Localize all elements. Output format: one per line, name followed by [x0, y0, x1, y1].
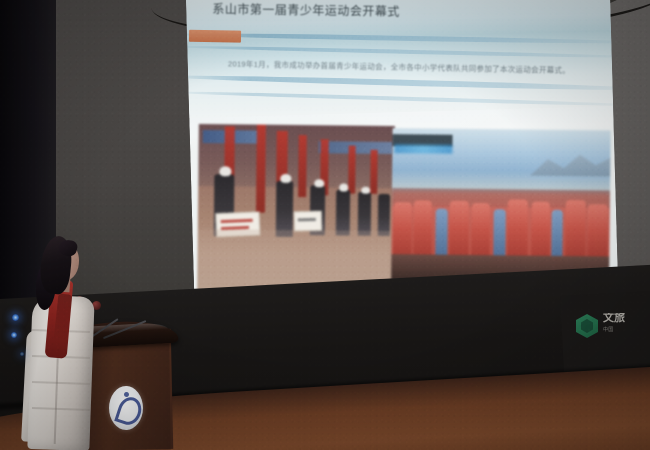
parade-placard — [294, 211, 322, 232]
crowd-person — [393, 202, 412, 260]
hexagon-leaf-icon — [576, 314, 598, 338]
crowd-person — [493, 209, 506, 259]
helmet-icon — [219, 166, 231, 176]
stadium-lights — [394, 144, 452, 154]
crowd-person — [413, 200, 432, 260]
slide-accent-tab — [189, 30, 241, 43]
crowd-person — [471, 203, 490, 261]
podium-emblem — [109, 386, 143, 430]
led-light-icon — [12, 314, 19, 321]
crowd-person — [435, 209, 448, 259]
marcher — [276, 181, 294, 237]
placard-text-line — [221, 219, 253, 223]
watermark-text: 文旅 — [603, 313, 650, 324]
placard-text-line — [298, 218, 316, 221]
crowd-person — [587, 204, 608, 262]
marcher — [336, 189, 350, 235]
slide-photo-left — [197, 124, 395, 301]
crowd-person — [565, 200, 586, 262]
auditorium-photo: 系山市第一届青少年运动会开幕式 2019年1月，我市成功举办首届青少年运动会，全… — [0, 0, 650, 450]
crowd-person — [507, 199, 528, 261]
crowd-person — [449, 201, 469, 261]
marcher — [358, 192, 371, 236]
helmet-icon — [280, 174, 291, 183]
red-flag — [370, 150, 377, 194]
emblem-dot-mark — [124, 392, 129, 397]
red-flag — [298, 135, 307, 197]
marcher — [378, 194, 390, 236]
helmet-icon — [339, 183, 348, 191]
red-flag — [348, 146, 356, 194]
led-light-icon — [11, 332, 17, 338]
watermark-subtext: 中国 — [603, 326, 650, 333]
crowd-person — [551, 210, 563, 260]
helmet-icon — [361, 187, 370, 194]
helmet-icon — [314, 179, 324, 187]
red-flag — [256, 125, 266, 213]
crowd-person — [531, 202, 550, 262]
slide-photo-right — [391, 128, 611, 282]
led-light-icon — [20, 352, 24, 356]
